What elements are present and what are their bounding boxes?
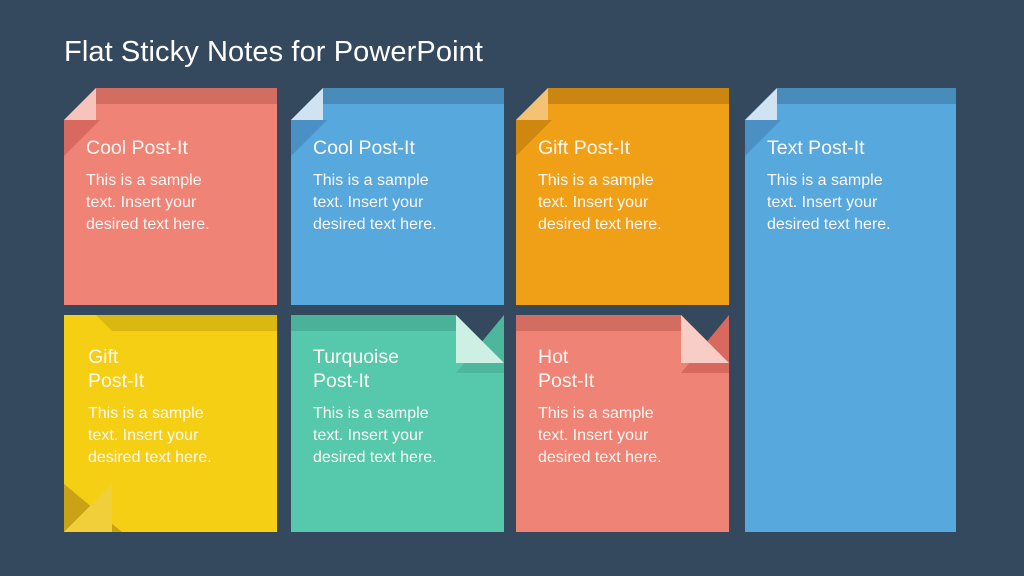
note-body: This is a sample text. Insert your desir… — [538, 170, 688, 236]
note-folded-corner-icon — [291, 88, 323, 120]
note-body: This is a sample text. Insert your desir… — [88, 403, 238, 469]
note-content: Cool Post-It This is a sample text. Inse… — [86, 136, 263, 236]
note-content: Gift Post-It This is a sample text. Inse… — [88, 345, 263, 469]
note-title: Gift Post-It — [538, 136, 715, 160]
note-folded-corner-icon — [745, 88, 777, 120]
note-title: Turquoise Post-It — [313, 345, 490, 393]
sticky-note[interactable]: Cool Post-It This is a sample text. Inse… — [291, 88, 504, 305]
sticky-note[interactable]: Turquoise Post-It This is a sample text.… — [291, 315, 504, 532]
note-title: Hot Post-It — [538, 345, 715, 393]
note-content: Hot Post-It This is a sample text. Inser… — [538, 345, 715, 469]
note-content: Text Post-It This is a sample text. Inse… — [767, 136, 942, 236]
sticky-note[interactable]: Gift Post-It This is a sample text. Inse… — [64, 315, 277, 532]
note-title: Gift Post-It — [88, 345, 263, 393]
note-body: This is a sample text. Insert your desir… — [86, 170, 236, 236]
note-content: Gift Post-It This is a sample text. Inse… — [538, 136, 715, 236]
note-content: Cool Post-It This is a sample text. Inse… — [313, 136, 490, 236]
note-folded-corner-icon — [516, 88, 548, 120]
note-body: This is a sample text. Insert your desir… — [538, 403, 688, 469]
note-title: Cool Post-It — [86, 136, 263, 160]
note-title: Text Post-It — [767, 136, 942, 160]
note-body: This is a sample text. Insert your desir… — [313, 403, 463, 469]
slide-canvas: Flat Sticky Notes for PowerPoint Cool Po… — [0, 0, 1024, 576]
sticky-note[interactable]: Hot Post-It This is a sample text. Inser… — [516, 315, 729, 532]
page-title: Flat Sticky Notes for PowerPoint — [64, 34, 483, 70]
sticky-note[interactable]: Gift Post-It This is a sample text. Inse… — [516, 88, 729, 305]
note-folded-corner-icon — [64, 88, 96, 120]
note-content: Turquoise Post-It This is a sample text.… — [313, 345, 490, 469]
note-body: This is a sample text. Insert your desir… — [313, 170, 463, 236]
note-body: This is a sample text. Insert your desir… — [767, 170, 909, 236]
sticky-note[interactable]: Cool Post-It This is a sample text. Inse… — [64, 88, 277, 305]
sticky-note[interactable]: Text Post-It This is a sample text. Inse… — [745, 88, 956, 532]
note-title: Cool Post-It — [313, 136, 490, 160]
note-folded-corner-icon — [64, 484, 112, 532]
